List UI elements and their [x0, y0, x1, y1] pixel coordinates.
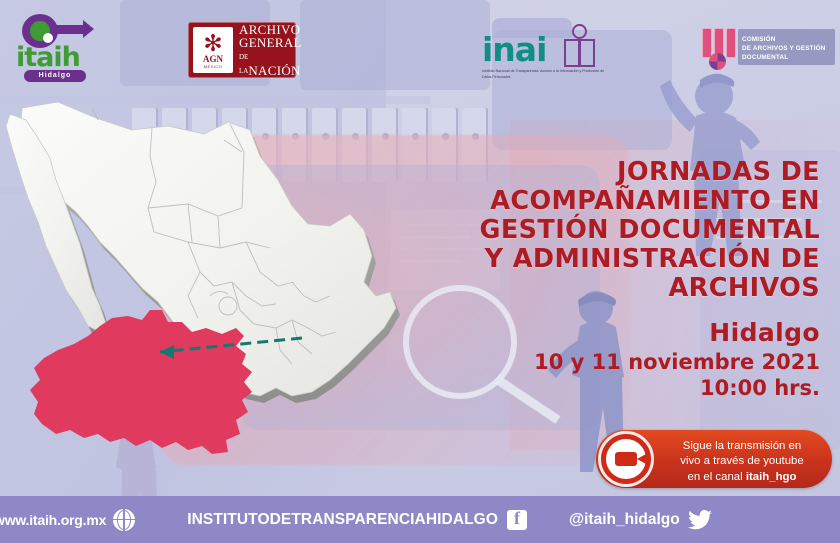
youtube-stream-text: Sigue la transmisión en vivo a través de…	[658, 439, 826, 485]
title-line-4: Y ADMINISTRACIÓN DE	[420, 245, 820, 274]
twitter-icon[interactable]	[688, 510, 712, 530]
title-line-3: GESTIÓN DOCUMENTAL	[420, 216, 820, 245]
title-line-5: ARCHIVOS	[420, 274, 820, 303]
video-camera-icon	[598, 431, 654, 487]
mexico-map	[0, 96, 432, 456]
comision-line-3: DOCUMENTAL	[738, 53, 835, 62]
cta-line-2: vivo a través de youtube	[658, 454, 826, 469]
logo-inai[interactable]: inai Instituto Nacional de Transparencia…	[482, 24, 612, 86]
cta-line-1: Sigue la transmisión en	[658, 439, 826, 454]
inai-wordmark: inai	[482, 30, 546, 69]
archive-cabinet-icon	[700, 26, 740, 68]
facebook-icon[interactable]	[507, 510, 527, 530]
title-line-2: ACOMPAÑAMIENTO EN	[420, 187, 820, 216]
agn-star-icon: ✻ AGN MÉXICO	[193, 27, 233, 73]
footer-facebook-name[interactable]: INSTITUTODETRANSPARENCIAHIDALGO	[187, 511, 498, 529]
itaih-wordmark: itaih	[16, 42, 80, 73]
logo-itaih[interactable]: itaih Hidalgo	[8, 12, 100, 84]
youtube-stream-banner[interactable]: Sigue la transmisión en vivo a través de…	[596, 430, 832, 488]
page-title: JORNADAS DE ACOMPAÑAMIENTO EN GESTIÓN DO…	[420, 158, 820, 303]
cta-channel: itaih_hgo	[746, 471, 797, 483]
footer-bar: www.itaih.org.mx INSTITUTODETRANSPARENCI…	[0, 496, 840, 543]
comision-line-2: DE ARCHIVOS Y GESTIÓN	[738, 44, 835, 53]
poster-canvas: itaih Hidalgo ✻ AGN MÉXICO ARCHIVO GENER…	[0, 0, 840, 543]
comision-line-1: COMISIÓN	[738, 29, 835, 44]
agn-abbr: AGN	[193, 54, 233, 64]
agn-abbr-sub: MÉXICO	[193, 64, 233, 69]
agn-line-3-small: DE LA	[239, 53, 248, 75]
cta-line-3-prefix: en el canal	[688, 471, 746, 483]
footer-twitter-name[interactable]: @itaih_hidalgo	[569, 511, 680, 529]
logo-agn[interactable]: ✻ AGN MÉXICO ARCHIVO GENERAL DE LANACIÓN	[188, 22, 296, 78]
agn-wordmark: ARCHIVO GENERAL DE LANACIÓN	[239, 23, 302, 78]
inai-description: Instituto Nacional de Transparencia, Acc…	[482, 68, 610, 80]
itaih-state-pill: Hidalgo	[24, 70, 86, 82]
event-details: Hidalgo 10 y 11 noviembre 2021 10:00 hrs…	[420, 318, 820, 400]
title-line-1: JORNADAS DE	[420, 158, 820, 187]
logo-comision-archivos[interactable]: COMISIÓN DE ARCHIVOS Y GESTIÓN DOCUMENTA…	[700, 26, 835, 78]
agn-line-2: GENERAL	[239, 36, 302, 50]
comision-wordmark: COMISIÓN DE ARCHIVOS Y GESTIÓN DOCUMENTA…	[738, 29, 835, 65]
event-time: 10:00 hrs.	[420, 376, 820, 400]
agn-line-1: ARCHIVO	[239, 23, 302, 37]
person-cube-icon	[560, 24, 600, 70]
logo-bar: itaih Hidalgo ✻ AGN MÉXICO ARCHIVO GENER…	[0, 0, 840, 100]
event-place: Hidalgo	[420, 318, 820, 347]
agn-line-3: NACIÓN	[248, 63, 300, 78]
itaih-arrow-icon	[52, 25, 84, 34]
footer-website[interactable]: www.itaih.org.mx	[0, 512, 106, 528]
globe-icon	[113, 509, 135, 531]
event-date: 10 y 11 noviembre 2021	[420, 350, 820, 374]
